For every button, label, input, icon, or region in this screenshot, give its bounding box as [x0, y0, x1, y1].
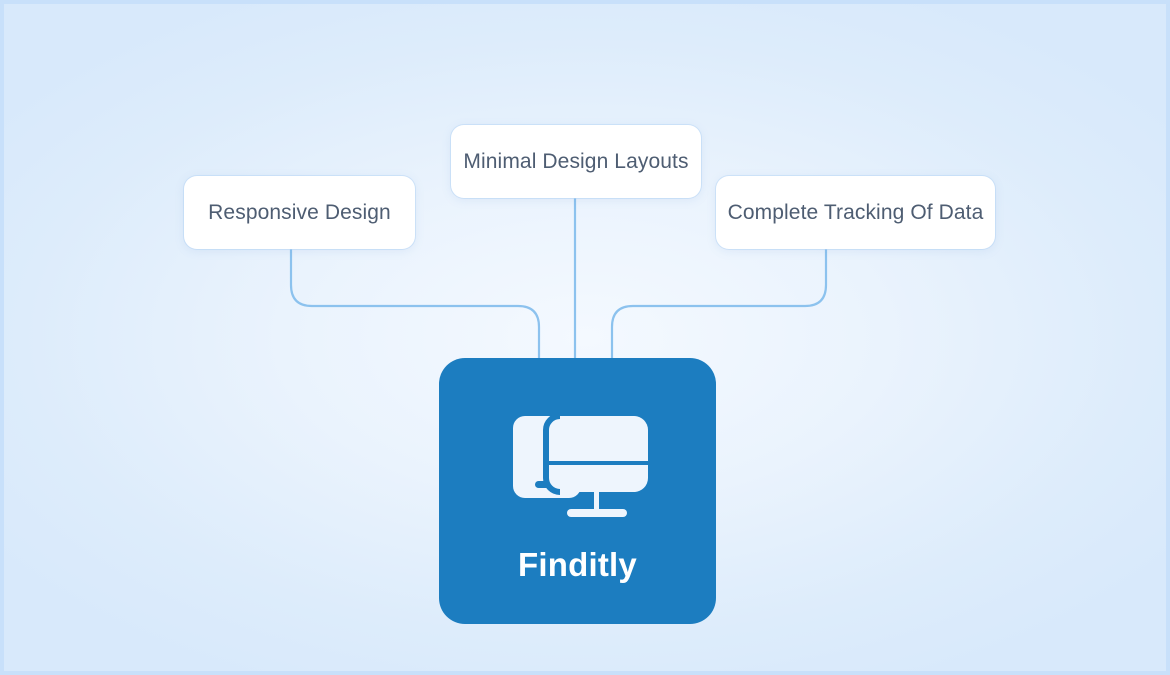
center-node-finditly[interactable]: Finditly [439, 358, 716, 624]
desktop-monitor-and-tablet-icon [503, 408, 653, 521]
node-label: Responsive Design [208, 202, 391, 223]
connector-responsive [291, 249, 539, 360]
brand-name: Finditly [518, 548, 637, 581]
node-complete-tracking-of-data[interactable]: Complete Tracking Of Data [716, 176, 995, 249]
node-label: Minimal Design Layouts [463, 151, 688, 172]
node-label: Complete Tracking Of Data [728, 202, 984, 223]
node-minimal-design-layouts[interactable]: Minimal Design Layouts [451, 125, 701, 198]
mindmap-canvas: Responsive Design Minimal Design Layouts… [0, 0, 1170, 675]
connector-tracking [612, 249, 826, 360]
node-responsive-design[interactable]: Responsive Design [184, 176, 415, 249]
